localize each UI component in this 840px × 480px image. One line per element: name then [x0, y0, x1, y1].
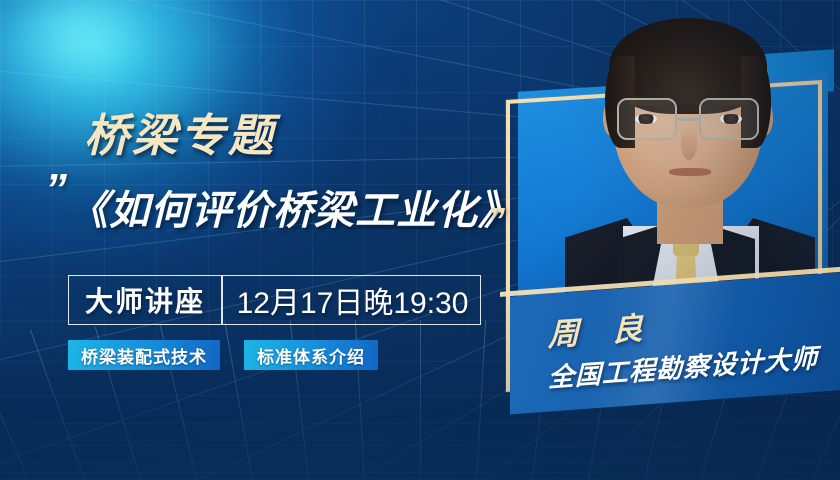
nose: [681, 126, 697, 160]
topic-tag: 标准体系介绍: [244, 340, 378, 370]
page-title: 桥梁专题: [84, 99, 276, 164]
speaker-nameplate: 周 良 全国工程勘察设计大师: [510, 272, 840, 415]
topic-tag: 桥梁装配式技术: [68, 340, 220, 370]
lecture-poster: 桥梁专题 ” 《如何评价桥梁工业化》 ” 大师讲座 12月17日晚19:30 桥…: [0, 0, 840, 480]
lecture-info-bar: 大师讲座 12月17日晚19:30: [68, 275, 481, 325]
eyeglasses-lens-right: [699, 98, 759, 140]
lecture-type-label: 大师讲座: [69, 276, 221, 324]
mouth: [669, 168, 711, 176]
lecture-subtitle: 《如何评价桥梁工业化》: [68, 178, 519, 236]
eyeglasses-bridge: [677, 118, 699, 121]
eyeglasses-lens-left: [617, 98, 677, 140]
quote-open-icon: ”: [45, 168, 64, 212]
lecture-datetime: 12月17日晚19:30: [223, 276, 481, 324]
topic-tag-list: 桥梁装配式技术 标准体系介绍: [68, 340, 378, 370]
quote-close-icon: ”: [487, 203, 502, 239]
